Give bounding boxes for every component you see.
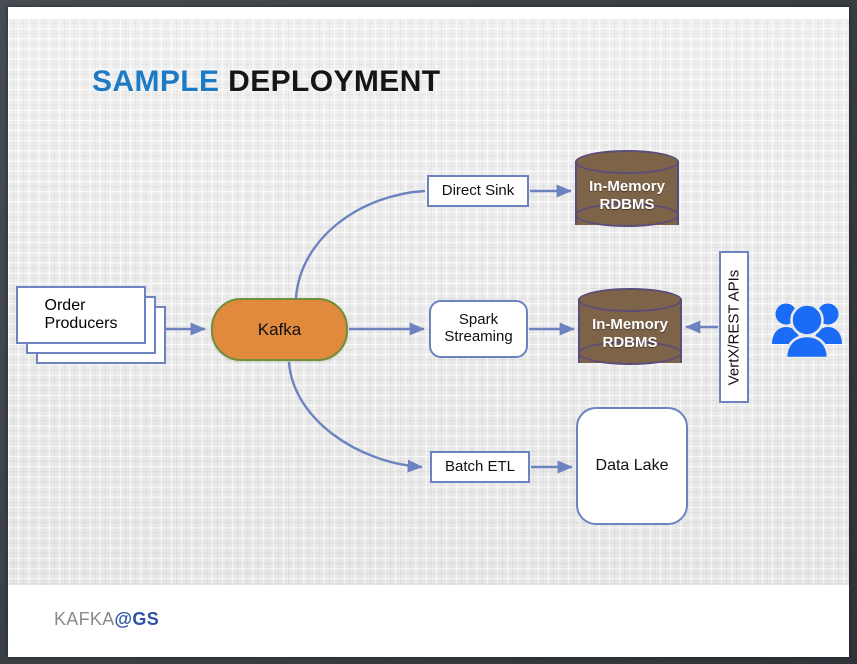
in-memory-rdbms-top-label: In-Memory RDBMS	[575, 170, 679, 222]
footer-logo-at: @	[115, 609, 133, 629]
direct-sink-label: Direct Sink	[442, 183, 515, 200]
title-rest: DEPLOYMENT	[219, 65, 440, 98]
users-icon	[770, 296, 844, 364]
page-title: SAMPLE DEPLOYMENT	[92, 65, 441, 99]
in-memory-rdbms-top-node[interactable]: In-Memory RDBMS	[575, 150, 679, 236]
batch-etl-node[interactable]: Batch ETL	[430, 451, 530, 483]
in-memory-rdbms-middle-node[interactable]: In-Memory RDBMS	[578, 288, 682, 374]
spark-streaming-node[interactable]: Spark Streaming	[429, 300, 528, 358]
order-producers-label-line1: Order	[45, 297, 118, 315]
spark-streaming-label-line1: Spark	[444, 312, 512, 329]
slide-footer: KAFKA@GS	[8, 585, 849, 657]
vertx-rest-apis-node[interactable]: VertX/REST APIs	[719, 251, 749, 403]
rdbms-top-label-line1: In-Memory	[589, 178, 665, 196]
direct-sink-node[interactable]: Direct Sink	[427, 175, 529, 207]
rdbms-top-label-line2: RDBMS	[600, 196, 655, 214]
title-highlight: SAMPLE	[92, 65, 219, 98]
footer-logo-org: GS	[132, 609, 159, 629]
order-producers-label-line2: Producers	[45, 315, 118, 333]
data-lake-node[interactable]: Data Lake	[576, 407, 688, 525]
window-frame: SAMPLE DEPLOYMENT	[0, 0, 857, 664]
footer-logo-brand: KAFKA	[54, 609, 115, 629]
batch-etl-label: Batch ETL	[445, 459, 515, 476]
kafka-label: Kafka	[258, 320, 301, 339]
spark-streaming-label-line2: Streaming	[444, 329, 512, 346]
order-producers-card-front: Order Producers	[16, 286, 146, 344]
data-lake-label: Data Lake	[596, 457, 669, 475]
kafka-node[interactable]: Kafka	[211, 298, 348, 361]
footer-logo: KAFKA@GS	[54, 609, 159, 630]
slide-canvas: SAMPLE DEPLOYMENT	[8, 7, 849, 657]
in-memory-rdbms-middle-label: In-Memory RDBMS	[578, 308, 682, 360]
vertx-rest-apis-label: VertX/REST APIs	[726, 269, 743, 385]
rdbms-middle-label-line2: RDBMS	[603, 334, 658, 352]
order-producers-node[interactable]: Order Producers	[16, 286, 168, 364]
rdbms-middle-label-line1: In-Memory	[592, 316, 668, 334]
